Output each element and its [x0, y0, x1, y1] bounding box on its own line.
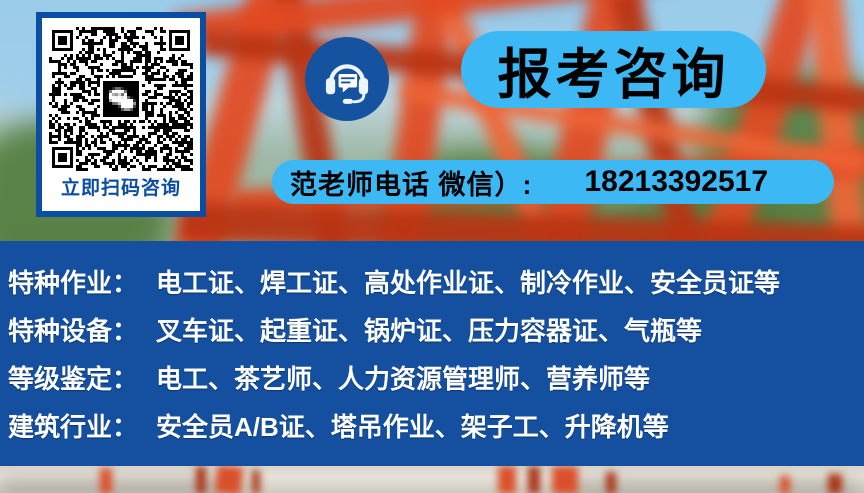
contact-label: 范老师电话 微信）:	[290, 163, 533, 202]
info-row-value: 电工、茶艺师、人力资源管理师、营养师等	[156, 355, 650, 403]
title-pill-label: 报考咨询	[498, 30, 730, 109]
title-pill[interactable]: 报考咨询	[461, 31, 766, 108]
info-row-category: 特种设备：	[8, 307, 156, 355]
info-row-category: 等级鉴定：	[8, 355, 156, 403]
qr-caption: 立即扫码咨询	[61, 176, 181, 202]
info-row: 特种设备： 叉车证、起重证、锅炉证、压力容器证、气瓶等	[0, 307, 864, 355]
info-row-value: 安全员A/B证、塔吊作业、架子工、升降机等	[156, 403, 669, 451]
course-info-panel: 特种作业： 电工证、焊工证、高处作业证、制冷作业、安全员证等 特种设备： 叉车证…	[0, 241, 864, 466]
info-row-value: 电工证、焊工证、高处作业证、制冷作业、安全员证等	[156, 259, 780, 307]
qr-code-image	[46, 24, 196, 174]
info-row-category: 特种作业：	[8, 259, 156, 307]
background-photo-bottom	[0, 466, 864, 493]
info-row: 等级鉴定： 电工、茶艺师、人力资源管理师、营养师等	[0, 355, 864, 403]
promo-banner: 立即扫码咨询 报考咨询 范老师电话 微信）: 18213392517	[0, 0, 864, 493]
info-row: 特种作业： 电工证、焊工证、高处作业证、制冷作业、安全员证等	[0, 259, 864, 307]
contact-pill[interactable]: 范老师电话 微信）: 18213392517	[272, 160, 834, 204]
contact-phone-number[interactable]: 18213392517	[585, 165, 769, 199]
info-row: 建筑行业： 安全员A/B证、塔吊作业、架子工、升降机等	[0, 403, 864, 451]
headset-chat-icon	[305, 37, 389, 121]
info-row-value: 叉车证、起重证、锅炉证、压力容器证、气瓶等	[156, 307, 702, 355]
info-row-category: 建筑行业：	[8, 403, 156, 451]
qr-card: 立即扫码咨询	[36, 12, 206, 217]
